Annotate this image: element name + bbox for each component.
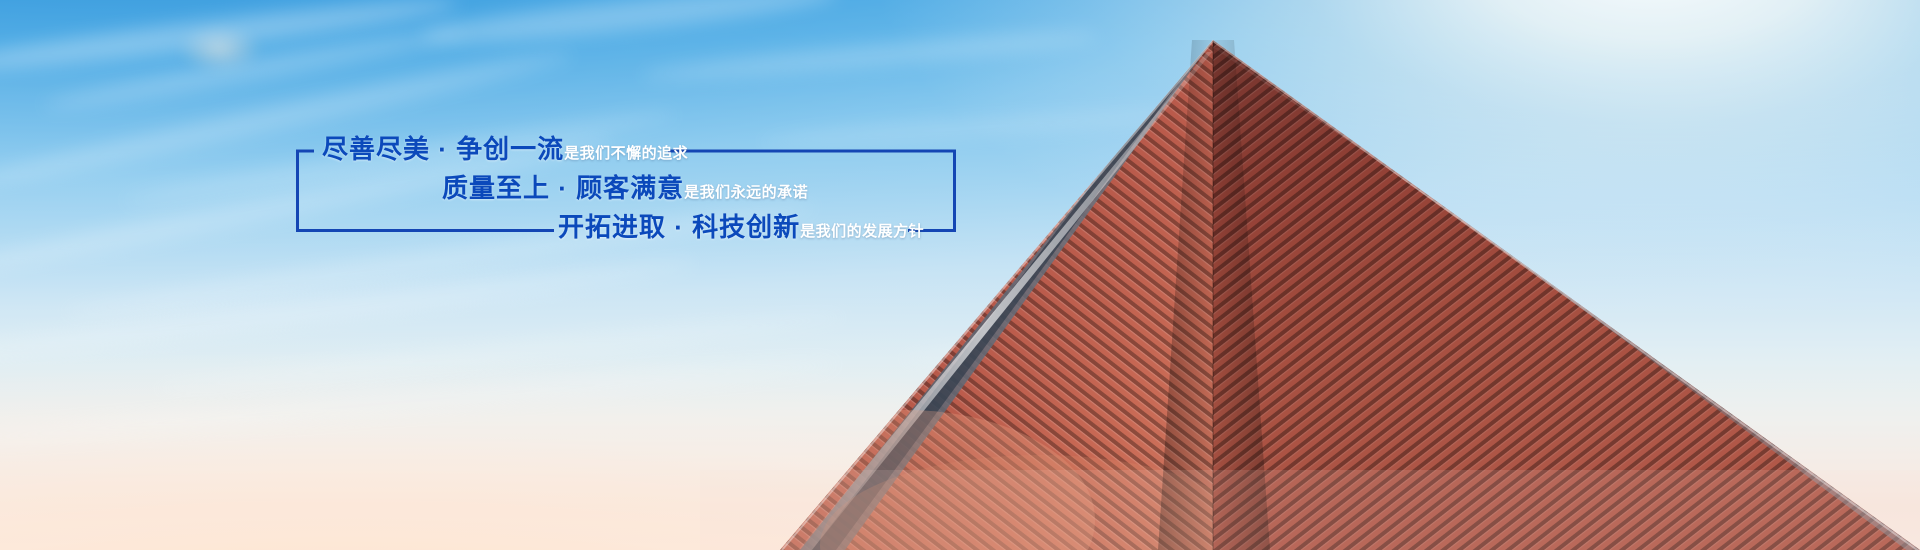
slogan-tagline-1: 是我们不懈的追求: [564, 145, 688, 162]
cloud-streak: [640, 26, 1100, 86]
slogan-line-1: 尽善尽美 · 争创一流是我们不懈的追求: [322, 136, 688, 162]
slogan-headline-1: 尽善尽美 · 争创一流: [322, 134, 564, 164]
banner-root: 尽善尽美 · 争创一流是我们不懈的追求 质量至上 · 顾客满意是我们永远的承诺 …: [0, 0, 1920, 550]
cloud-streak: [1000, 384, 1600, 439]
slogan-line-3: 开拓进取 · 科技创新是我们的发展方针: [558, 214, 924, 240]
cloud-layer: [0, 0, 1920, 550]
slogan-headline-2: 质量至上 · 顾客满意: [442, 173, 684, 203]
cloud-streak: [900, 312, 1420, 370]
slogan-block: 尽善尽美 · 争创一流是我们不懈的追求 质量至上 · 顾客满意是我们永远的承诺 …: [296, 132, 956, 250]
slogan-line-2: 质量至上 · 顾客满意是我们永远的承诺: [442, 175, 808, 201]
cloud-streak: [420, 0, 841, 52]
slogan-tagline-2: 是我们永远的承诺: [684, 184, 808, 201]
slogan-tagline-3: 是我们的发展方针: [800, 223, 924, 240]
slogan-headline-3: 开拓进取 · 科技创新: [558, 212, 800, 242]
